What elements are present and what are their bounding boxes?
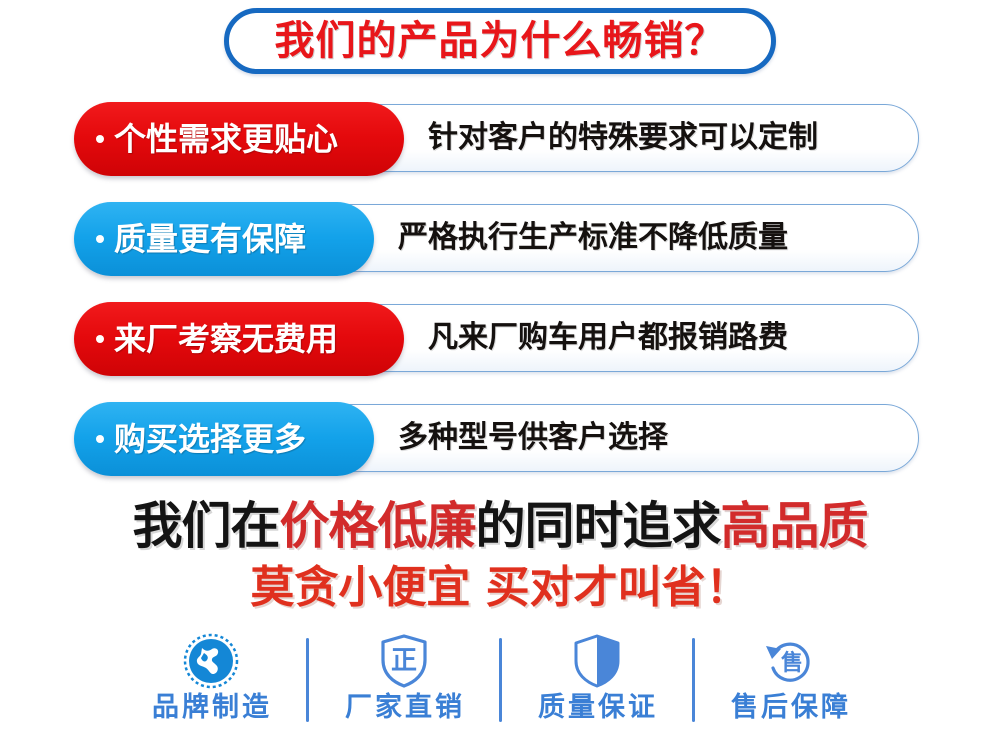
feature-row-3: 来厂考察无费用 凡来厂购车用户都报销路费: [81, 304, 919, 372]
bullet-dot-icon: [96, 435, 104, 443]
badge-quality-guarantee: 质量保证: [502, 630, 692, 721]
slogan-line-1: 我们在价格低廉的同时追求高品质: [0, 500, 1000, 553]
title-capsule: 我们的产品为什么畅销？: [224, 8, 776, 74]
shield-glyph: 正: [390, 646, 416, 676]
slogan-line-2: 莫贪小便宜 买对才叫省！: [0, 565, 1000, 611]
trust-badge-bar: 品牌制造 正 厂家直销 质量保证 售 售后保: [0, 630, 1000, 750]
feature-row-1: 个性需求更贴心 针对客户的特殊要求可以定制: [81, 104, 919, 172]
feature-tag-label-4: 购买选择更多: [114, 423, 306, 455]
badge-label-after-sales: 售后保障: [728, 694, 851, 721]
header-banner: 我们的产品为什么畅销？: [0, 8, 1000, 74]
circular-arrow-glyph: 售: [780, 650, 802, 676]
feature-tag-1: 个性需求更贴心: [74, 102, 404, 176]
circular-arrow-shou-icon: 售: [760, 630, 820, 692]
feature-tag-2: 质量更有保障: [74, 202, 374, 276]
badge-brand-manufacturing: 品牌制造: [116, 630, 306, 721]
badge-label-quality-guarantee: 质量保证: [535, 694, 658, 721]
bullet-dot-icon: [96, 135, 104, 143]
feature-desc-2: 严格执行生产标准不降低质量: [398, 223, 788, 253]
slogan-segment-black-2: 的同时追求: [476, 497, 721, 555]
feature-tag-label-3: 来厂考察无费用: [114, 323, 338, 355]
badge-label-factory-direct: 厂家直销: [342, 694, 465, 721]
slogan-segment-black-1: 我们在: [133, 497, 280, 555]
feature-tag-label-2: 质量更有保障: [114, 223, 306, 255]
badge-label-brand-manufacturing: 品牌制造: [149, 694, 272, 721]
slogan-segment-red-2: 高品质: [721, 497, 868, 555]
feature-desc-1: 针对客户的特殊要求可以定制: [428, 123, 818, 153]
shield-half-icon: [570, 630, 624, 692]
feature-list: 个性需求更贴心 针对客户的特殊要求可以定制 质量更有保障 严格执行生产标准不降低…: [0, 104, 1000, 504]
feature-desc-3: 凡来厂购车用户都报销路费: [428, 323, 788, 353]
bullet-dot-icon: [96, 335, 104, 343]
slogan-segment-red-1: 价格低廉: [280, 497, 476, 555]
shield-zheng-icon: 正: [377, 630, 431, 692]
feature-row-2: 质量更有保障 严格执行生产标准不降低质量: [81, 204, 919, 272]
feature-tag-4: 购买选择更多: [74, 402, 374, 476]
bullet-dot-icon: [96, 235, 104, 243]
feature-row-4: 购买选择更多 多种型号供客户选择: [81, 404, 919, 472]
feature-tag-label-1: 个性需求更贴心: [114, 123, 338, 155]
feature-tag-3: 来厂考察无费用: [74, 302, 404, 376]
feature-desc-4: 多种型号供客户选择: [398, 423, 668, 453]
badge-factory-direct: 正 厂家直销: [309, 630, 499, 721]
globe-icon: [182, 630, 240, 692]
badge-after-sales: 售 售后保障: [695, 630, 885, 721]
page-title: 我们的产品为什么畅销？: [275, 21, 726, 61]
